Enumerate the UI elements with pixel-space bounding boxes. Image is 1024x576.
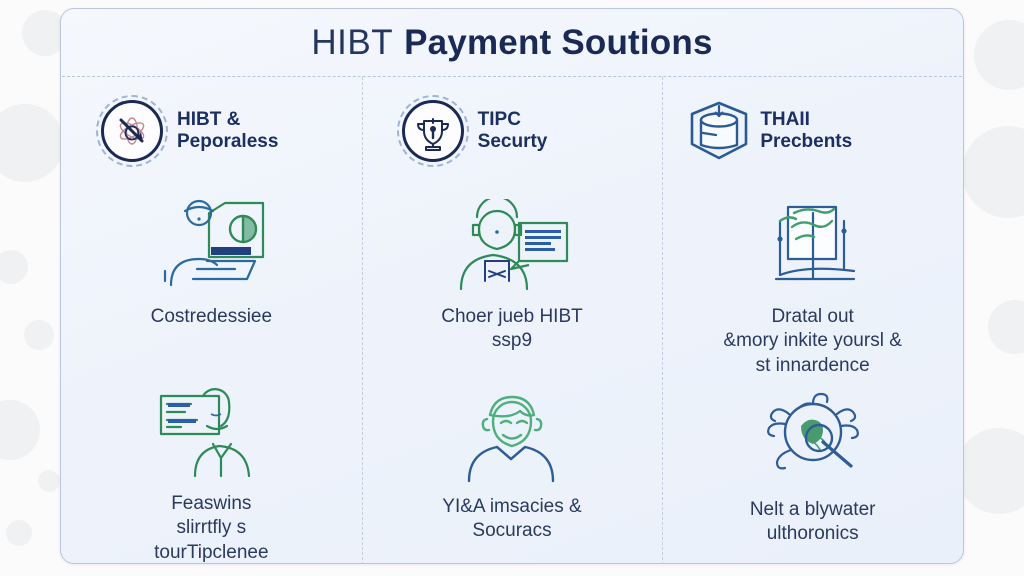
column-thaii-precbents: THAII Precbents <box>662 77 963 564</box>
support-agent-headset-icon <box>451 195 573 299</box>
page-title: HIBT Payment Soutions <box>61 9 963 76</box>
feature-grid: HIBT & Peporaless <box>61 77 963 564</box>
page-title-light: HIBT <box>311 23 393 63</box>
column-header-hibt-peporaless[interactable]: HIBT & Peporaless <box>71 77 352 185</box>
background-blob <box>0 400 40 460</box>
column-title: TIPC Securty <box>478 109 548 154</box>
column-hibt-peporaless: HIBT & Peporaless <box>61 77 362 564</box>
cell-label: YI&A imsacies & Socuracs <box>442 495 581 544</box>
atom-crossed-badge-icon <box>101 100 163 162</box>
page-title-bold: Payment Soutions <box>404 23 713 63</box>
shield-trophy-badge-icon <box>402 100 464 162</box>
main-panel: HIBT Payment Soutions <box>60 8 964 564</box>
column-title: HIBT & Peporaless <box>177 109 278 154</box>
cell-costredessiee[interactable]: Costredessiee <box>71 185 352 372</box>
cell-feaswins[interactable]: Feaswins slirrtfly s tourTipclenee <box>71 372 352 564</box>
cell-label: Feaswins slirrtfly s tourTipclenee <box>154 492 268 564</box>
background-blob <box>38 470 60 492</box>
magnifier-network-icon <box>755 388 871 492</box>
column-tipc-securty: TIPC Securty <box>362 77 663 564</box>
background-blob <box>988 300 1024 354</box>
cell-label: Choer jueb HIBT ssp9 <box>441 305 583 354</box>
cell-label: Dratal out &mory inkite yoursl & st inna… <box>723 305 901 378</box>
document-stand-icon <box>758 195 868 299</box>
cell-choer-jueb-hibt[interactable]: Choer jueb HIBT ssp9 <box>372 185 653 375</box>
cell-label: Costredessiee <box>151 305 272 329</box>
person-with-card-icon <box>151 195 271 299</box>
column-title: THAII Precbents <box>760 109 852 154</box>
cell-yia-imsacies[interactable]: YI&A imsacies & Socuracs <box>372 375 653 564</box>
background-blob <box>956 428 1024 514</box>
person-with-document-icon <box>151 382 271 486</box>
column-header-thaii-precbents[interactable]: THAII Precbents <box>672 77 953 185</box>
background-blob <box>0 250 28 284</box>
cell-nelt-a-blywater[interactable]: Nelt a blywater ulthoronics <box>672 378 953 564</box>
background-blob <box>24 320 54 350</box>
background-blob <box>974 20 1024 90</box>
background-blob <box>0 104 64 182</box>
background-blob <box>962 126 1024 218</box>
column-header-tipc-securty[interactable]: TIPC Securty <box>372 77 653 185</box>
person-smiling-icon <box>457 385 567 489</box>
background-blob <box>6 520 32 546</box>
cell-dratal-out[interactable]: Dratal out &mory inkite yoursl & st inna… <box>672 185 953 378</box>
cell-label: Nelt a blywater ulthoronics <box>750 498 876 547</box>
hexagon-database-icon <box>686 98 752 164</box>
